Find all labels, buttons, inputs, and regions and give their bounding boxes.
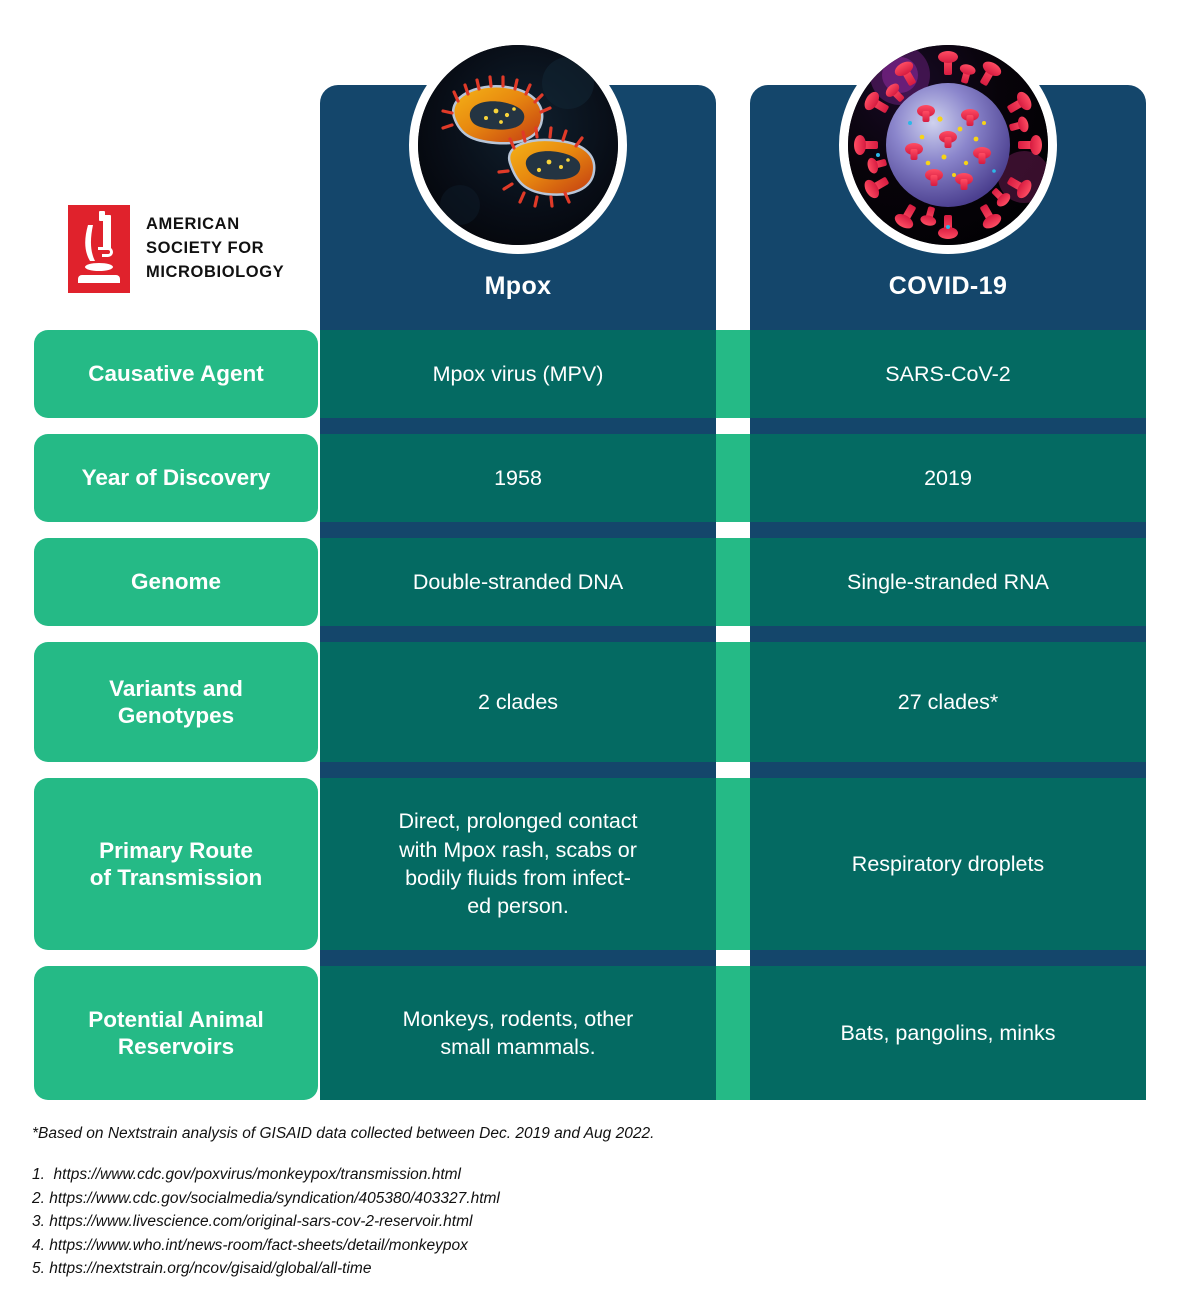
reference-item: 2. https://www.cdc.gov/socialmedia/syndi… [32,1187,1032,1211]
table-row: Genome Double-stranded DNA Single-strand… [0,538,1184,626]
column-bridge [716,538,750,626]
column-title-mpox: Mpox [320,272,716,301]
table-row: Causative Agent Mpox virus (MPV) SARS-Co… [0,330,1184,418]
reference-item: 1. https://www.cdc.gov/poxvirus/monkeypo… [32,1163,1032,1187]
column-bridge [716,778,750,950]
column-bridge [716,642,750,762]
reference-list: 1. https://www.cdc.gov/poxvirus/monkeypo… [32,1163,1032,1281]
cell-covid-variants-and-genotypes: 27 clades* [750,642,1146,762]
cell-mpox-variants-and-genotypes: 2 clades [320,642,716,762]
cell-covid-year-of-discovery: 2019 [750,434,1146,522]
row-label-year-of-discovery: Year of Discovery [34,434,318,522]
sars-cov-2-illustration [839,36,1057,254]
table-row: Potential Animal Reservoirs Monkeys, rod… [0,966,1184,1100]
table-row: Primary Route of Transmission Direct, pr… [0,778,1184,950]
table-row: Variants and Genotypes 2 clades 27 clade… [0,642,1184,762]
table-row: Year of Discovery 1958 2019 [0,434,1184,522]
comparison-infographic: AMERICAN SOCIETY FOR MICROBIOLOGY [0,0,1184,1300]
column-title-covid: COVID-19 [750,272,1146,301]
row-label-variants-and-genotypes: Variants and Genotypes [34,642,318,762]
reference-item: 5. https://nextstrain.org/ncov/gisaid/gl… [32,1257,1032,1281]
footnotes: *Based on Nextstrain analysis of GISAID … [32,1122,1032,1281]
column-bridge [716,434,750,522]
cell-covid-potential-animal-reservoirs: Bats, pangolins, minks [750,966,1146,1100]
mpox-virion-micrograph [409,36,627,254]
footnote-asterisk-note: *Based on Nextstrain analysis of GISAID … [32,1122,1032,1145]
asm-logo-text: AMERICAN SOCIETY FOR MICROBIOLOGY [146,213,284,285]
cell-covid-genome: Single-stranded RNA [750,538,1146,626]
asm-logo: AMERICAN SOCIETY FOR MICROBIOLOGY [68,205,284,293]
column-bridge [716,966,750,1100]
cell-mpox-primary-route-of-transmission: Direct, prolonged contact with Mpox rash… [320,778,716,950]
cell-mpox-potential-animal-reservoirs: Monkeys, rodents, other small mammals. [320,966,716,1100]
cell-mpox-causative-agent: Mpox virus (MPV) [320,330,716,418]
row-label-potential-animal-reservoirs: Potential Animal Reservoirs [34,966,318,1100]
row-label-genome: Genome [34,538,318,626]
microscope-icon [68,205,130,293]
row-label-primary-route-of-transmission: Primary Route of Transmission [34,778,318,950]
reference-item: 4. https://www.who.int/news-room/fact-sh… [32,1234,1032,1258]
infographic-header: AMERICAN SOCIETY FOR MICROBIOLOGY [0,0,1184,330]
column-bridge [716,330,750,418]
cell-covid-primary-route-of-transmission: Respiratory droplets [750,778,1146,950]
row-label-causative-agent: Causative Agent [34,330,318,418]
cell-covid-causative-agent: SARS-CoV-2 [750,330,1146,418]
cell-mpox-year-of-discovery: 1958 [320,434,716,522]
cell-mpox-genome: Double-stranded DNA [320,538,716,626]
reference-item: 3. https://www.livescience.com/original-… [32,1210,1032,1234]
